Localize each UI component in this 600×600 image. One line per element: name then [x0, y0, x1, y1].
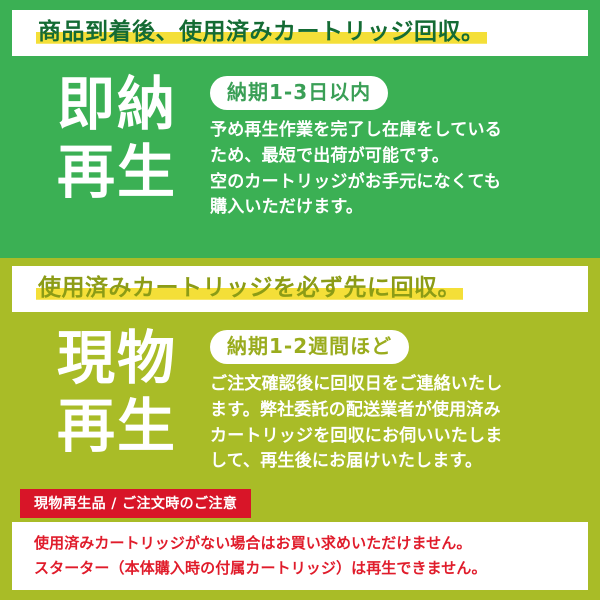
- genbutsu-content-row: 現物 再生 納期1-2週間ほど ご注文確認後に回収日をご連絡いたし ます。弊社委…: [12, 324, 588, 475]
- genbutsu-description-line-3: カートリッジを回収にお伺いいたしま: [210, 424, 588, 450]
- sokuno-heading: 即納 再生: [24, 70, 210, 207]
- sokuno-lead-time-badge: 納期1-3日以内: [210, 76, 388, 110]
- sokuno-description-line-3: 空のカートリッジがお手元になくても: [210, 170, 588, 196]
- sokuno-content-row: 即納 再生 納期1-3日以内 予め再生作業を完了し在庫をしている ため、最短で出…: [12, 70, 588, 221]
- sokuno-description: 予め再生作業を完了し在庫をしている ため、最短で出荷が可能です。 空のカートリッ…: [210, 118, 588, 221]
- genbutsu-description-line-4: して、再生後にお届けいたします。: [210, 449, 588, 475]
- genbutsu-heading: 現物 再生: [24, 324, 210, 461]
- genbutsu-heading-line2: 再生: [24, 392, 210, 460]
- genbutsu-caution-line-1: 使用済みカートリッジがない場合はお買い求めいただけません。: [34, 531, 588, 555]
- genbutsu-banner: 使用済みカートリッジを必ず先に回収。: [12, 266, 588, 312]
- genbutsu-caution-box: 使用済みカートリッジがない場合はお買い求めいただけません。 スターター（本体購入…: [12, 522, 588, 590]
- genbutsu-heading-line1: 現物: [24, 324, 210, 392]
- section-genbutsu: 使用済みカートリッジを必ず先に回収。 現物 再生 納期1-2週間ほど ご注文確認…: [0, 258, 600, 600]
- section-sokuno: 商品到着後、使用済みカートリッジ回収。 即納 再生 納期1-3日以内 予め再生作…: [0, 0, 600, 258]
- sokuno-banner-text: 商品到着後、使用済みカートリッジ回収。: [36, 19, 487, 47]
- sokuno-heading-line2: 再生: [24, 138, 210, 206]
- genbutsu-caution-line-2: スターター（本体購入時の付属カートリッジ）は再生できません。: [34, 556, 588, 580]
- sokuno-heading-line1: 即納: [24, 70, 210, 138]
- genbutsu-lead-time-badge: 納期1-2週間ほど: [210, 330, 409, 364]
- genbutsu-notice-bar: 現物再生品 / ご注文時のご注意: [20, 489, 251, 518]
- genbutsu-detail: 納期1-2週間ほど ご注文確認後に回収日をご連絡いたし ます。弊社委託の配送業者…: [210, 324, 588, 475]
- sokuno-banner: 商品到着後、使用済みカートリッジ回収。: [12, 10, 588, 56]
- genbutsu-description: ご注文確認後に回収日をご連絡いたし ます。弊社委託の配送業者が使用済み カートリ…: [210, 372, 588, 475]
- sokuno-description-line-1: 予め再生作業を完了し在庫をしている: [210, 118, 588, 144]
- promo-poster: 商品到着後、使用済みカートリッジ回収。 即納 再生 納期1-3日以内 予め再生作…: [0, 0, 600, 600]
- genbutsu-description-line-1: ご注文確認後に回収日をご連絡いたし: [210, 372, 588, 398]
- sokuno-description-line-4: 購入いただけます。: [210, 195, 588, 221]
- sokuno-detail: 納期1-3日以内 予め再生作業を完了し在庫をしている ため、最短で出荷が可能です…: [210, 70, 588, 221]
- genbutsu-banner-text: 使用済みカートリッジを必ず先に回収。: [36, 275, 463, 303]
- sokuno-description-line-2: ため、最短で出荷が可能です。: [210, 144, 588, 170]
- genbutsu-description-line-2: ます。弊社委託の配送業者が使用済み: [210, 398, 588, 424]
